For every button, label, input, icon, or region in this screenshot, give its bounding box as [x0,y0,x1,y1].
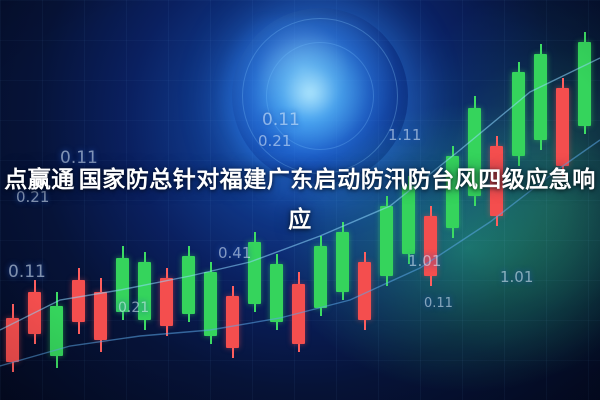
brand-name: 点赢通 [4,167,75,193]
headline: 点赢通国家防总针对福建广东启动防汛防台风四级应急响应 [0,160,600,240]
headline-title: 国家防总针对福建广东启动防汛防台风四级应急响应 [79,167,596,233]
promo-image: 0.110.211.110.110.210.411.010.111.010.21… [0,0,600,400]
